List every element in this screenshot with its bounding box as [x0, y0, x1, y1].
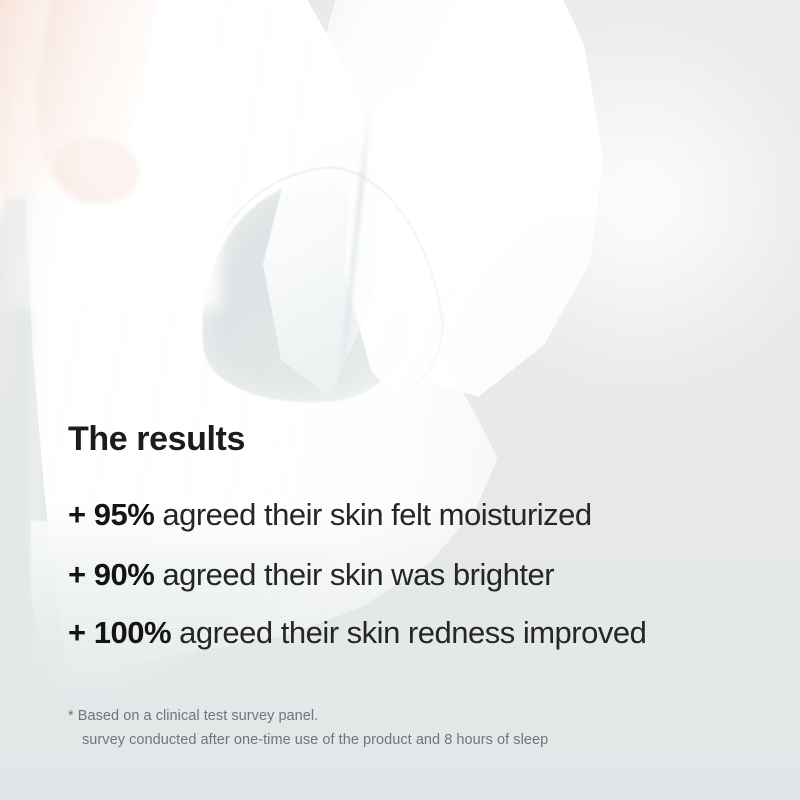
product-results-graphic: The results + 95% agreed their skin felt… — [0, 0, 800, 800]
stat-label: agreed their skin was brighter — [154, 557, 554, 592]
stat-value: + 100% — [68, 615, 171, 650]
stat-label: agreed their skin redness improved — [171, 615, 646, 650]
stat-value: + 90% — [68, 557, 154, 592]
stat-value: + 95% — [68, 497, 154, 532]
stat-row: + 100% agreed their skin redness improve… — [68, 615, 646, 651]
stat-row: + 95% agreed their skin felt moisturized — [68, 497, 592, 533]
page-title: The results — [68, 420, 245, 459]
text-overlay: The results + 95% agreed their skin felt… — [0, 0, 800, 800]
footnote-line-1: * Based on a clinical test survey panel. — [68, 708, 318, 724]
stat-label: agreed their skin felt moisturized — [154, 497, 591, 532]
stat-row: + 90% agreed their skin was brighter — [68, 557, 554, 593]
footnote-line-2: survey conducted after one-time use of t… — [68, 728, 548, 752]
footnote: * Based on a clinical test survey panel.… — [68, 704, 548, 752]
